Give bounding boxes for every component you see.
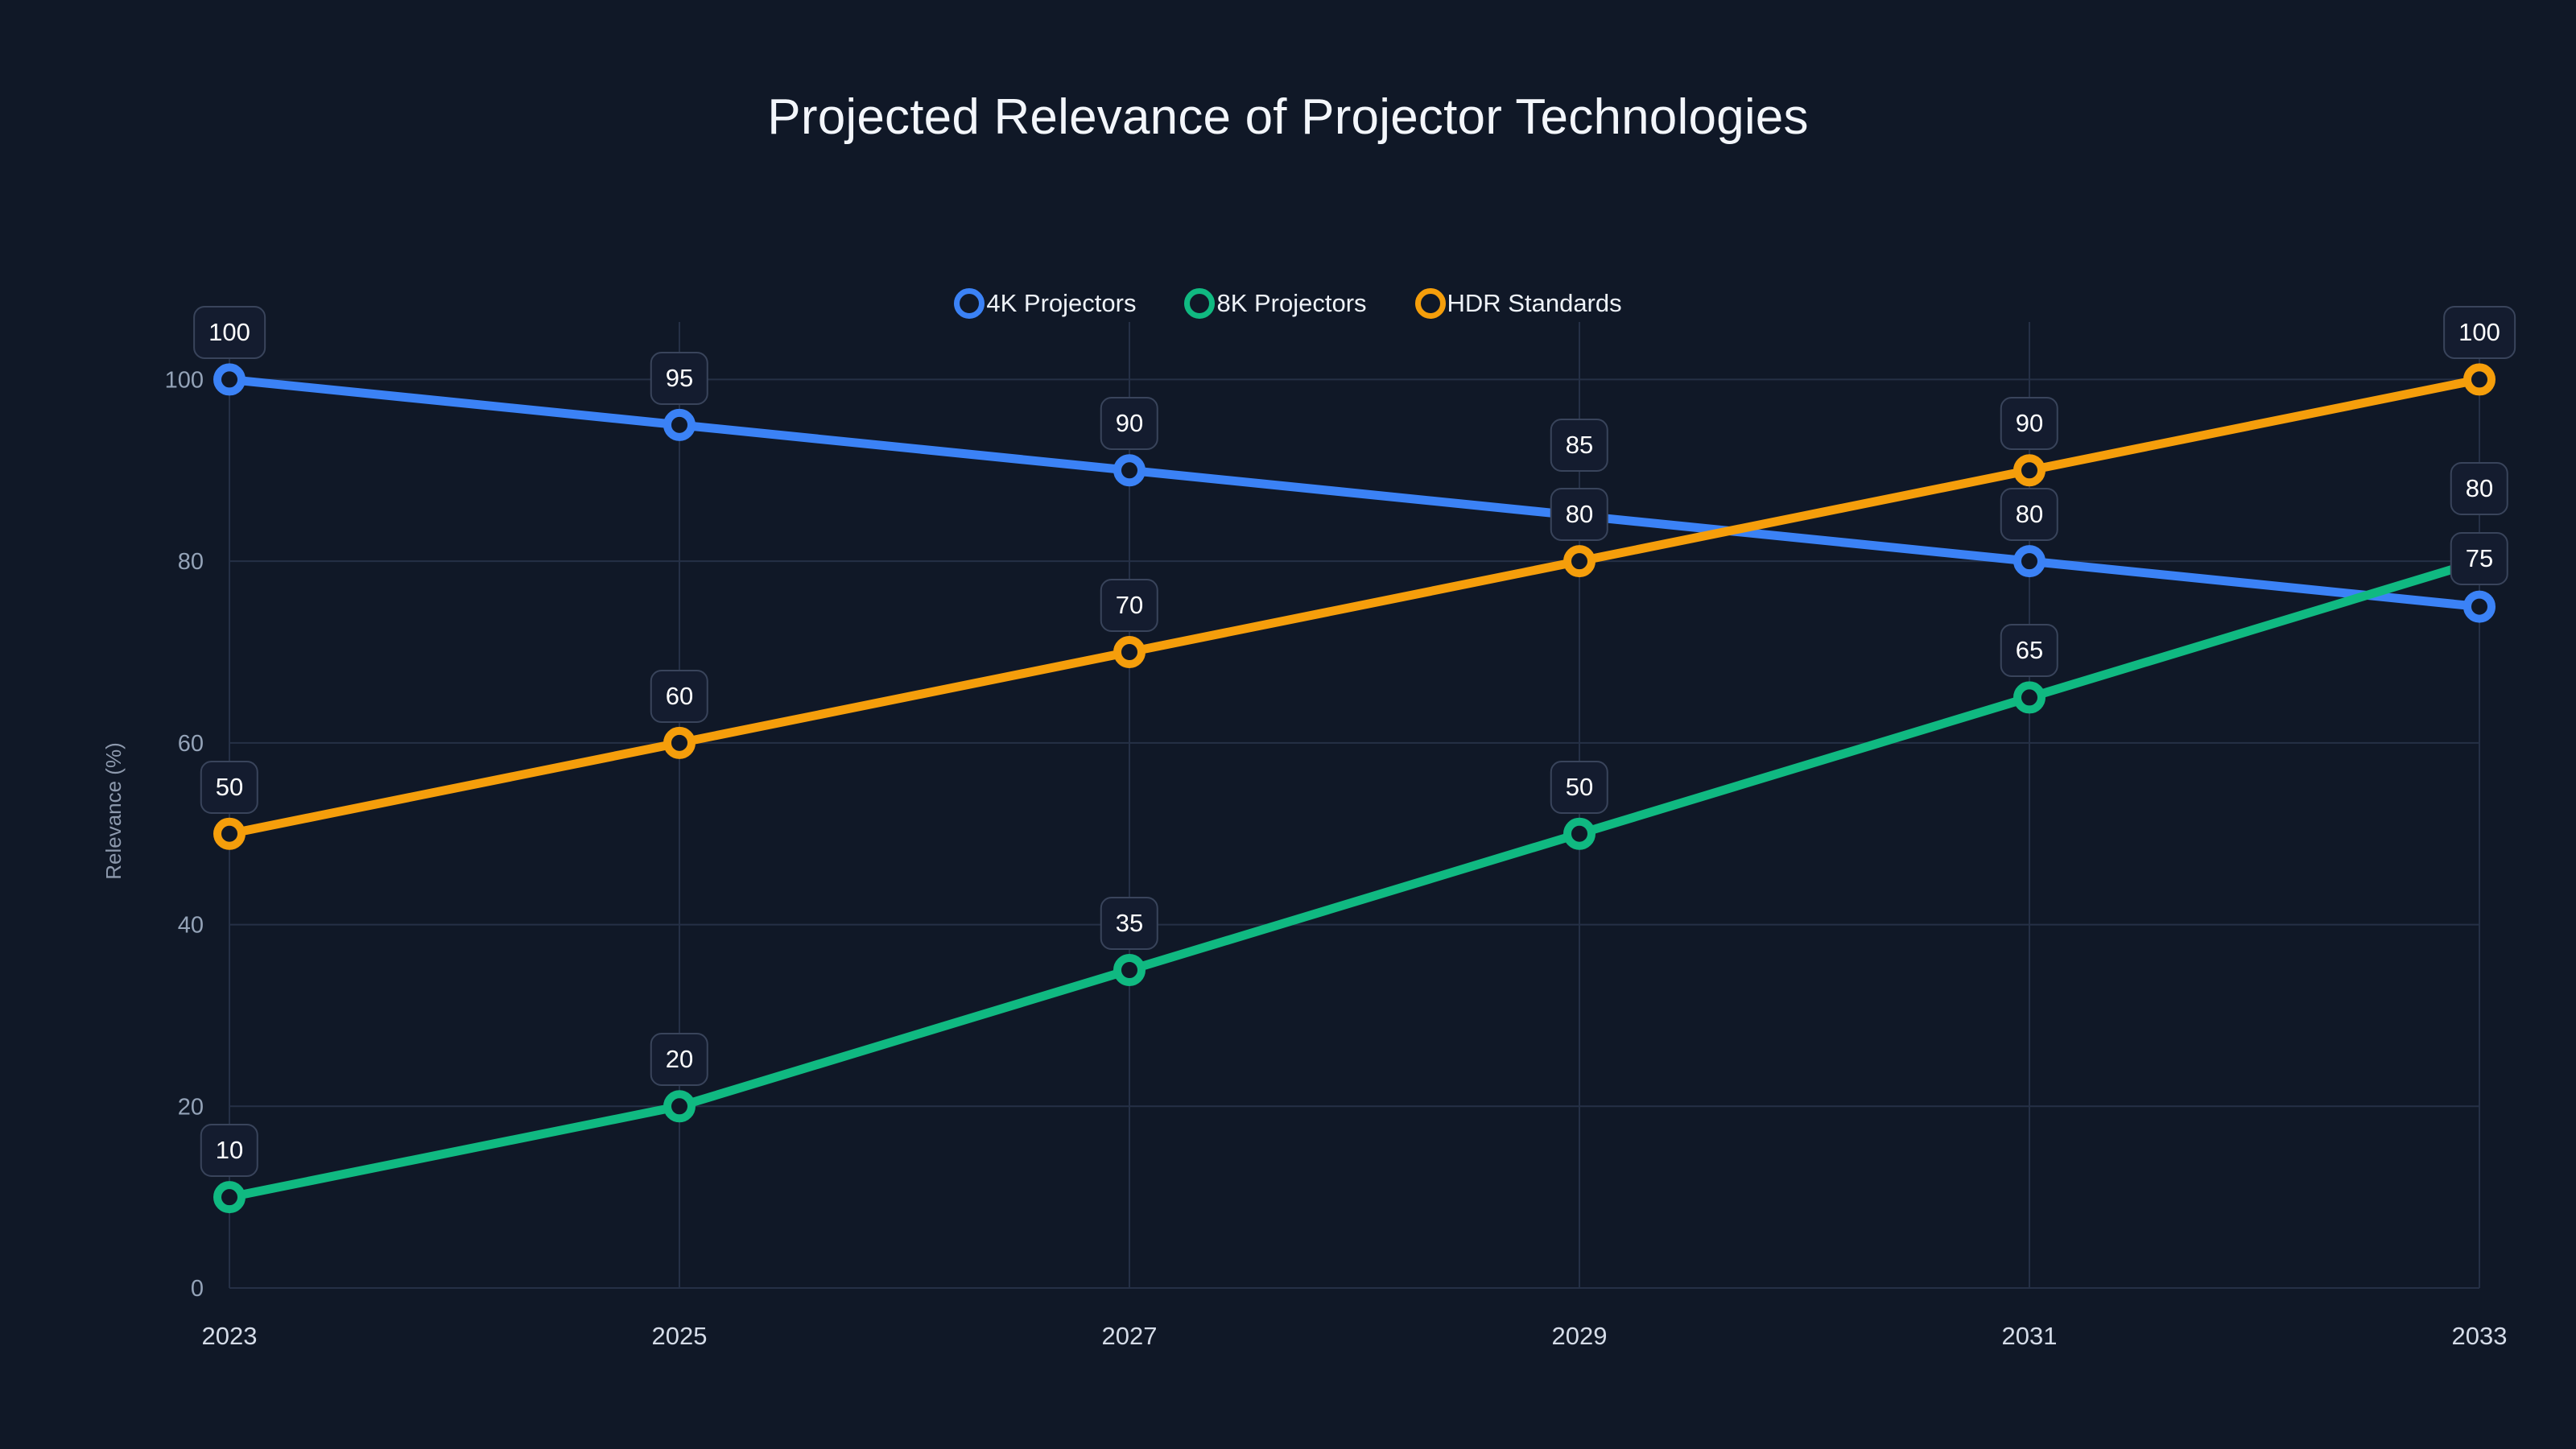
y-axis-tick-label: 40 (178, 913, 204, 939)
data-point-label: 65 (2000, 624, 2058, 677)
data-point-label: 95 (650, 352, 708, 405)
x-axis-tick-label: 2023 (202, 1322, 258, 1350)
series-line-1 (229, 379, 2479, 606)
data-point-marker[interactable] (2017, 549, 2041, 573)
gridlines (229, 322, 2479, 1288)
y-axis-tick-label: 60 (178, 731, 204, 757)
data-point-label: 70 (1100, 579, 1158, 632)
data-point-label: 80 (2000, 488, 2058, 541)
data-point-marker[interactable] (2467, 367, 2491, 391)
data-point-marker[interactable] (667, 731, 691, 755)
y-axis-tick-label: 100 (165, 367, 204, 393)
data-point-label: 50 (200, 761, 258, 814)
y-axis-title-label: Relevance (%) (101, 742, 126, 880)
x-axis-tick-label: 2027 (1102, 1322, 1158, 1350)
series-line-2 (229, 561, 2479, 1197)
data-point-marker[interactable] (217, 367, 242, 391)
x-axis-tick-label: 2031 (2002, 1322, 2058, 1350)
data-point-marker[interactable] (1567, 549, 1591, 573)
data-point-label: 20 (650, 1033, 708, 1086)
data-point-marker[interactable] (1117, 640, 1141, 664)
data-point-marker[interactable] (217, 1185, 242, 1209)
data-point-label: 60 (650, 670, 708, 723)
data-point-marker[interactable] (1117, 458, 1141, 482)
data-point-label: 10 (200, 1124, 258, 1177)
data-point-label: 90 (1100, 397, 1158, 450)
data-point-label: 80 (2450, 462, 2508, 515)
data-point-label: 80 (1550, 488, 1608, 541)
data-point-marker[interactable] (2017, 685, 2041, 709)
x-tick-labels: 202320252027202920312033 (202, 1322, 2508, 1350)
x-axis-tick-label: 2025 (652, 1322, 708, 1350)
y-axis-tick-label: 20 (178, 1094, 204, 1120)
data-point-label: 75 (2450, 532, 2508, 585)
data-point-label: 85 (1550, 419, 1608, 472)
data-point-label: 90 (2000, 397, 2058, 450)
data-point-marker[interactable] (1117, 958, 1141, 982)
data-point-label: 100 (2443, 306, 2516, 359)
data-point-marker[interactable] (1567, 822, 1591, 846)
chart-canvas: 020406080100 202320252027202920312033 Re… (0, 0, 2576, 1449)
x-axis-tick-label: 2029 (1552, 1322, 1608, 1350)
data-point-label: 100 (193, 306, 266, 359)
y-axis-title: Relevance (%) (101, 742, 126, 880)
chart-page: Projected Relevance of Projector Technol… (0, 0, 2576, 1449)
data-point-marker[interactable] (2017, 458, 2041, 482)
series-lines (229, 379, 2479, 1197)
y-axis-tick-label: 80 (178, 549, 204, 575)
y-tick-labels: 020406080100 (165, 367, 204, 1302)
y-axis-tick-label: 0 (191, 1276, 204, 1302)
series-line-3 (229, 379, 2479, 833)
data-point-marker[interactable] (217, 822, 242, 846)
data-point-marker[interactable] (667, 413, 691, 437)
plot-area: 020406080100 202320252027202920312033 Re… (0, 0, 2576, 1449)
data-point-label: 35 (1100, 897, 1158, 950)
data-point-marker[interactable] (2467, 595, 2491, 619)
data-point-label: 50 (1550, 761, 1608, 814)
x-axis-tick-label: 2033 (2452, 1322, 2508, 1350)
data-point-marker[interactable] (667, 1094, 691, 1118)
